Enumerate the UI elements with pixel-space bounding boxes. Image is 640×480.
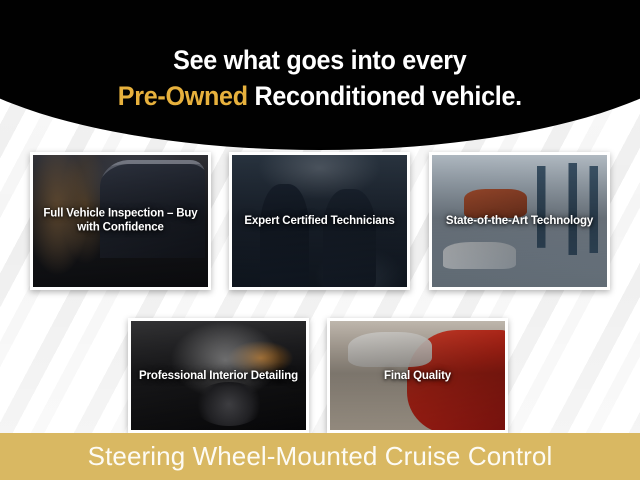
headline-line-2-rest: Reconditioned vehicle. [248, 81, 522, 111]
card-photo: Expert Certified Technicians [232, 155, 407, 287]
card-label: Expert Certified Technicians [236, 214, 403, 228]
promo-graphic: See what goes into every Pre-Owned Recon… [0, 0, 640, 480]
header-banner: See what goes into every Pre-Owned Recon… [0, 0, 640, 150]
card-label: Full Vehicle Inspection – Buy with Confi… [37, 207, 204, 236]
header-text-block: See what goes into every Pre-Owned Recon… [0, 45, 640, 112]
card-expert-certified-technicians[interactable]: Expert Certified Technicians [229, 152, 410, 290]
card-label: State-of-the-Art Technology [436, 214, 603, 228]
headline-line-2: Pre-Owned Reconditioned vehicle. [0, 81, 640, 112]
card-photo: Full Vehicle Inspection – Buy with Confi… [33, 155, 208, 287]
card-label: Professional Interior Detailing [135, 368, 302, 382]
card-label: Final Quality [334, 368, 501, 382]
card-state-of-the-art-technology[interactable]: State-of-the-Art Technology [429, 152, 610, 290]
feature-banner-text: Steering Wheel-Mounted Cruise Control [88, 441, 553, 472]
card-photo: Professional Interior Detailing [131, 321, 306, 430]
card-final-quality[interactable]: Final Quality [327, 318, 508, 433]
feature-banner: Steering Wheel-Mounted Cruise Control [0, 433, 640, 480]
headline-highlight-word: Pre-Owned [118, 81, 248, 111]
card-photo: Final Quality [330, 321, 505, 430]
headline-line-1: See what goes into every [0, 45, 640, 76]
card-photo: State-of-the-Art Technology [432, 155, 607, 287]
card-full-vehicle-inspection[interactable]: Full Vehicle Inspection – Buy with Confi… [30, 152, 211, 290]
card-professional-interior-detailing[interactable]: Professional Interior Detailing [128, 318, 309, 433]
